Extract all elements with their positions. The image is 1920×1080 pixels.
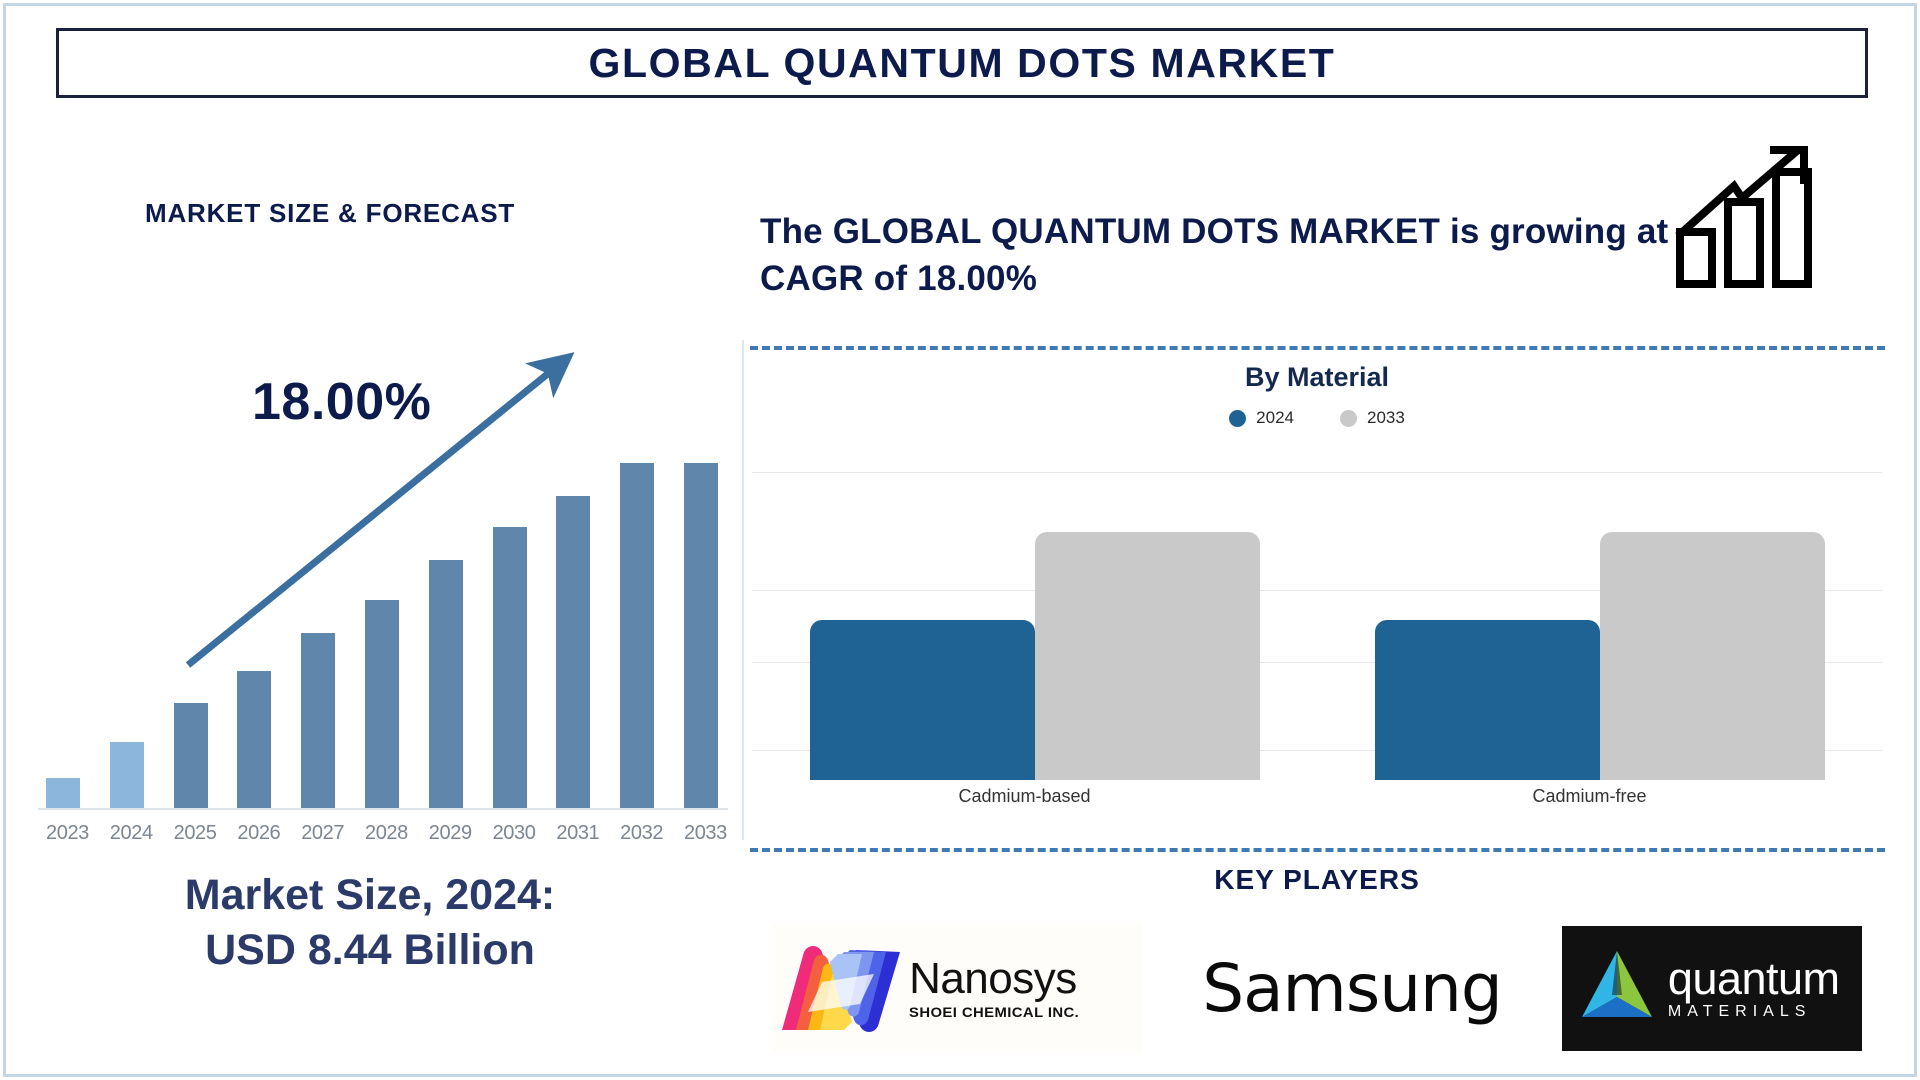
key-players-title: KEY PLAYERS [742,864,1892,896]
category-label-cadmium-based: Cadmium-based [795,786,1255,807]
page-title: GLOBAL QUANTUM DOTS MARKET [589,40,1336,87]
bar-cadmium-based-2033 [1035,532,1260,780]
bar-2032 [620,463,654,808]
by-material-legend: 2024 2033 [742,408,1892,428]
growth-arrow-bars-icon [1672,140,1832,290]
nanosys-subtitle: SHOEI CHEMICAL INC. [909,1005,1087,1019]
bar-2028 [365,600,399,808]
legend-item-2024: 2024 [1229,408,1294,428]
year-label-2031: 2031 [556,822,590,845]
chart-baseline [38,808,728,810]
divider-dashed-top [750,346,1885,350]
title-box: GLOBAL QUANTUM DOTS MARKET [56,28,1868,98]
quantum-triangle-icon [1574,945,1660,1031]
year-label-2030: 2030 [493,822,527,845]
nanosys-name: Nanosys [909,957,1077,1001]
gridline-top [752,472,1882,473]
quantum-name: quantum [1668,956,1840,1001]
year-label-2025: 2025 [174,822,208,845]
cagr-headline: The GLOBAL QUANTUM DOTS MARKET is growin… [760,208,1720,303]
market-forecast-panel: MARKET SIZE & FORECAST 18.00% [20,150,735,1050]
by-material-bar-chart [752,450,1882,780]
year-label-2029: 2029 [429,822,463,845]
quantum-wordmark: quantum MATERIALS [1668,956,1840,1020]
bar-group-cadmium-based [805,532,1265,780]
divider-dashed-bottom [750,848,1885,852]
legend-dot-icon-2033 [1340,410,1357,427]
market-size-line-2: USD 8.44 Billion [20,923,720,978]
bar-2023 [46,778,80,808]
legend-label-2024: 2024 [1256,408,1294,428]
bar-2025 [174,703,208,808]
bar-2030 [493,527,527,808]
infographic-canvas: GLOBAL QUANTUM DOTS MARKET MARKET SIZE &… [0,0,1920,1080]
legend-dot-icon-2024 [1229,410,1246,427]
bar-group-cadmium-free [1370,532,1830,780]
logo-nanosys: Nanosys SHOEI CHEMICAL INC. [772,923,1142,1053]
year-label-2024: 2024 [110,822,144,845]
bar-2029 [429,560,463,808]
legend-label-2033: 2033 [1367,408,1405,428]
market-size-line-1: Market Size, 2024: [20,868,720,923]
bar-cadmium-free-2024 [1375,620,1600,780]
category-label-cadmium-free: Cadmium-free [1360,786,1820,807]
bar-2024 [110,742,144,808]
logo-samsung: Samsung [1202,950,1502,1027]
bar-2033 [684,463,718,808]
market-size-callout: Market Size, 2024: USD 8.44 Billion [20,868,720,978]
bar-2026 [237,671,271,808]
bar-2031 [556,496,590,808]
bar-cadmium-free-2033 [1600,532,1825,780]
year-label-2028: 2028 [365,822,399,845]
year-label-2026: 2026 [237,822,271,845]
forecast-bars [46,356,718,808]
year-label-2033: 2033 [684,822,718,845]
year-label-2027: 2027 [301,822,335,845]
section-heading-market-size-forecast: MARKET SIZE & FORECAST [145,198,515,229]
logo-quantum-materials: quantum MATERIALS [1562,926,1862,1051]
key-players-logos: Nanosys SHOEI CHEMICAL INC. Samsung quan… [742,918,1892,1058]
year-label-2032: 2032 [620,822,654,845]
legend-item-2033: 2033 [1340,408,1405,428]
quantum-subtitle: MATERIALS [1668,1004,1840,1020]
year-axis-labels: 2023 2024 2025 2026 2027 2028 2029 2030 … [46,822,718,845]
bar-cadmium-based-2024 [810,620,1035,780]
by-material-category-labels: Cadmium-based Cadmium-free [742,786,1872,807]
year-label-2023: 2023 [46,822,80,845]
by-material-title: By Material [742,362,1892,393]
forecast-bar-chart [28,350,728,810]
nanosys-wordmark: Nanosys SHOEI CHEMICAL INC. [909,957,1077,1019]
right-panel: The GLOBAL QUANTUM DOTS MARKET is growin… [742,150,1892,1050]
bar-2027 [301,633,335,808]
nanosys-wave-icon [778,938,903,1038]
by-material-bar-groups [752,480,1882,780]
